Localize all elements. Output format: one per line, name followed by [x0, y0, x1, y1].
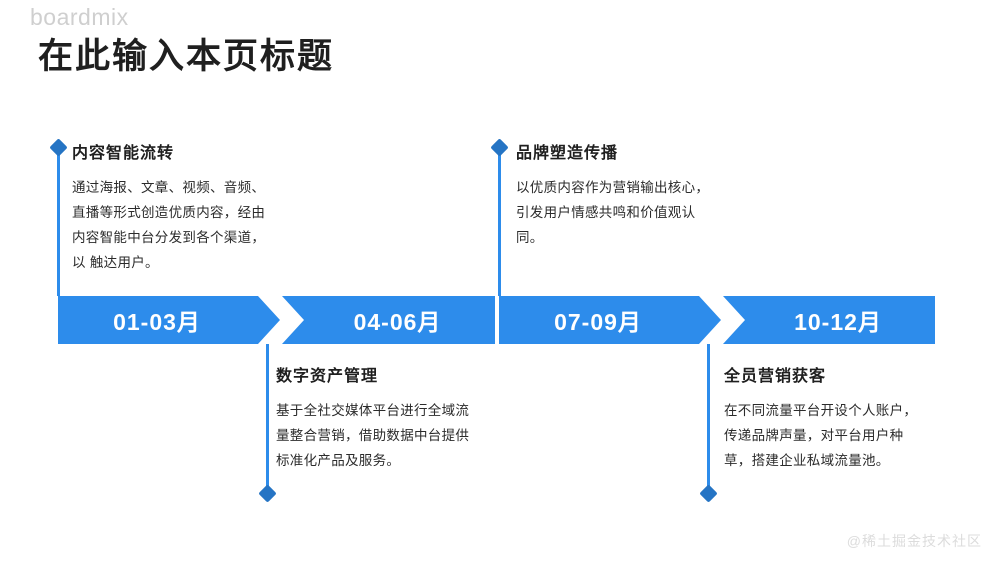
timeline-segment-4-label: 10-12月 [794, 303, 882, 337]
content-block-title: 品牌塑造传播 [516, 139, 746, 163]
content-block-title: 内容智能流转 [72, 139, 302, 163]
connector-line-4 [707, 344, 710, 492]
connector-line-3 [266, 344, 269, 492]
content-block-title: 全员营销获客 [724, 362, 964, 386]
connector-line-1 [57, 150, 60, 296]
timeline-segment-1-label: 01-03月 [113, 303, 201, 337]
diamond-marker-3 [258, 484, 276, 502]
content-block-body: 以优质内容作为营销输出核心， 引发用户情感共鸣和价值观认 同。 [516, 175, 746, 250]
diamond-marker-2 [490, 138, 508, 156]
diamond-marker-1 [49, 138, 67, 156]
content-block-bottom-left: 数字资产管理 基于全社交媒体平台进行全域流 量整合营销，借助数据中台提供 标准化… [276, 362, 506, 473]
diamond-marker-4 [699, 484, 717, 502]
timeline-bar-group-right: 07-09月 10-12月 [499, 296, 935, 344]
timeline-segment-3-label: 07-09月 [554, 303, 642, 337]
timeline-segment-1[interactable]: 01-03月 [58, 296, 280, 344]
boardmix-logo: boardmix [30, 4, 129, 31]
content-block-body: 基于全社交媒体平台进行全域流 量整合营销，借助数据中台提供 标准化产品及服务。 [276, 398, 506, 473]
watermark: @稀土掘金技术社区 [847, 531, 982, 551]
timeline-segment-2-label: 04-06月 [354, 303, 442, 337]
slide-canvas: boardmix 在此输入本页标题 01-03月 04-06月 07-09月 1… [0, 0, 1000, 563]
timeline-segment-2[interactable]: 04-06月 [280, 296, 495, 344]
page-title: 在此输入本页标题 [38, 28, 334, 79]
connector-line-2 [498, 150, 501, 296]
timeline-segment-4[interactable]: 10-12月 [721, 296, 935, 344]
content-block-body: 在不同流量平台开设个人账户， 传递品牌声量，对平台用户种 草，搭建企业私域流量池… [724, 398, 964, 473]
content-block-title: 数字资产管理 [276, 362, 506, 386]
timeline-segment-3[interactable]: 07-09月 [499, 296, 721, 344]
content-block-body: 通过海报、文章、视频、音频、 直播等形式创造优质内容，经由 内容智能中台分发到各… [72, 175, 302, 275]
content-block-top-right: 品牌塑造传播 以优质内容作为营销输出核心， 引发用户情感共鸣和价值观认 同。 [516, 139, 746, 250]
content-block-top-left: 内容智能流转 通过海报、文章、视频、音频、 直播等形式创造优质内容，经由 内容智… [72, 139, 302, 275]
timeline-bar-group-left: 01-03月 04-06月 [58, 296, 495, 344]
content-block-bottom-right: 全员营销获客 在不同流量平台开设个人账户， 传递品牌声量，对平台用户种 草，搭建… [724, 362, 964, 473]
